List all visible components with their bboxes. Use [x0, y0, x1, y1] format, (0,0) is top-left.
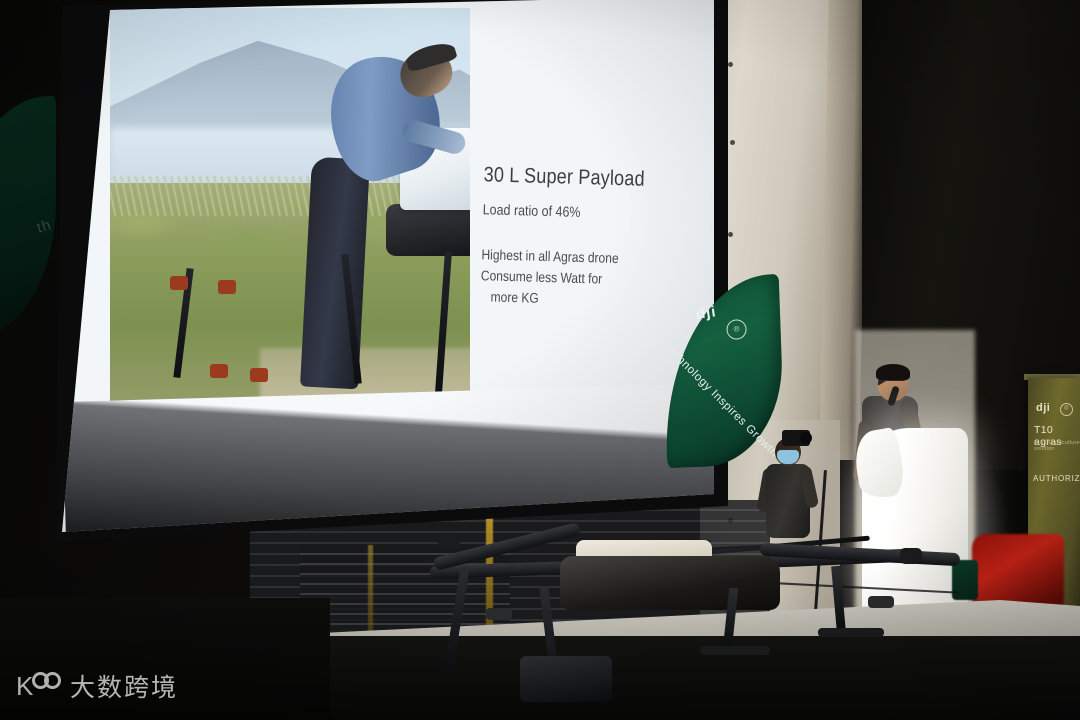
- slide-body-line: more KG: [480, 286, 653, 312]
- registered-mark-icon-right: ®: [1060, 403, 1073, 416]
- slide-drone-nozzle: [218, 280, 236, 294]
- slide-drone-nozzle: [170, 276, 188, 290]
- drone-motor: [900, 548, 922, 564]
- watermark-text: 大数跨境: [70, 668, 178, 704]
- slide-drone-nozzle: [250, 368, 268, 382]
- slide-person-legs: [300, 157, 370, 390]
- drone-fuselage: [560, 556, 780, 610]
- drone-nozzle: [868, 596, 894, 608]
- slide-drone-body: [386, 204, 470, 256]
- perforation-dot: [730, 140, 735, 145]
- slide-drone-nozzle: [210, 364, 228, 378]
- slide-photograph: [110, 8, 470, 408]
- drone-landing-foot: [700, 646, 770, 655]
- drone-landing-foot: [818, 628, 884, 637]
- watermark: K 大数跨境: [14, 668, 178, 704]
- photo-scene: th: [0, 0, 1080, 720]
- slide-text-block: 30 L Super Payload Load ratio of 46% Hig…: [480, 163, 684, 313]
- watermark-logo-glyph: K: [16, 673, 33, 699]
- registered-mark-icon: ®: [726, 319, 747, 340]
- banner-right-line2: in and agriculture solution: [1034, 440, 1080, 452]
- perforation-dot: [728, 62, 733, 67]
- projection-screen: 30 L Super Payload Load ratio of 46% Hig…: [62, 0, 714, 532]
- dji-logo-right: dji: [1036, 402, 1050, 414]
- yellow-post-secondary: [368, 545, 373, 640]
- dji-logo: dji: [695, 303, 718, 323]
- banner-left-text: th: [35, 216, 54, 237]
- drone-nozzle: [486, 608, 512, 620]
- slide-heading: 30 L Super Payload: [483, 163, 656, 192]
- drone-battery-box: [520, 656, 612, 702]
- drone-motor: [438, 534, 460, 550]
- slide-body: Highest in all Agras drone Consume less …: [480, 244, 654, 312]
- banner-right-line3: AUTHORIZED: [1033, 474, 1080, 483]
- camera-lens-icon: [800, 432, 812, 444]
- watermark-logo-icon: K: [14, 671, 60, 701]
- face-mask-icon: [777, 450, 799, 464]
- perforation-dot: [728, 232, 733, 237]
- banner-tagline: Technology Inspires Growth: [660, 340, 775, 455]
- glasses-icon: [880, 380, 904, 387]
- slide-subheading: Load ratio of 46%: [483, 202, 655, 223]
- red-equipment-cover: [972, 534, 1064, 608]
- speaker-hair: [876, 364, 910, 381]
